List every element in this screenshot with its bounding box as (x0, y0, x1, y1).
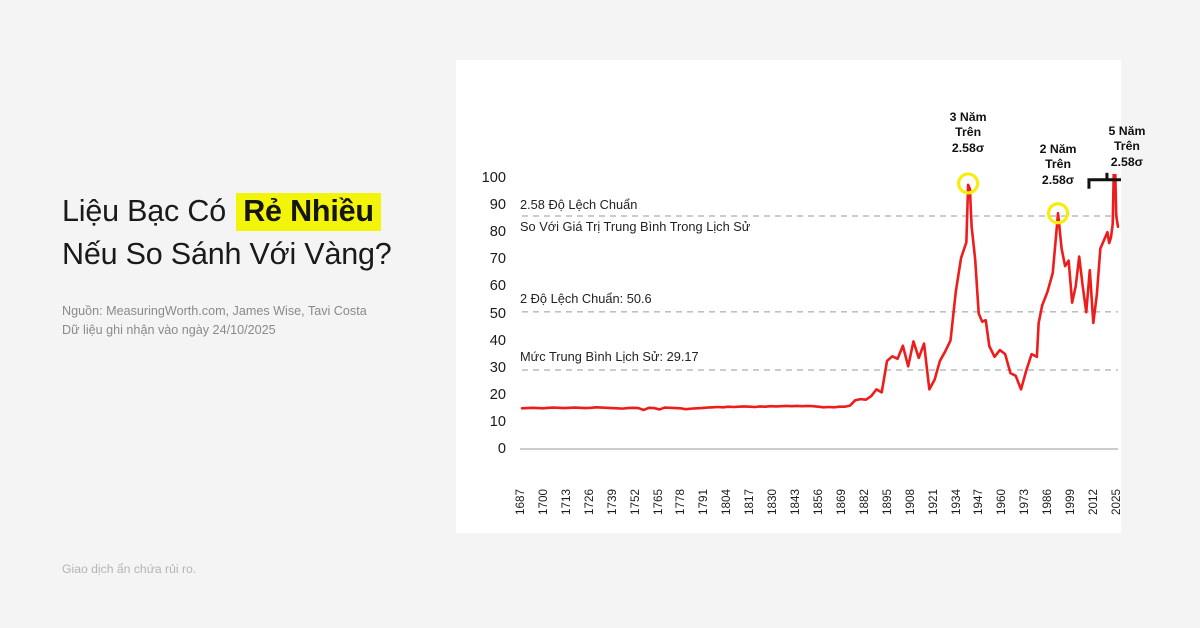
x-axis-tick-label: 1752 (629, 489, 642, 515)
x-axis-tick-label: 1739 (606, 489, 619, 515)
x-axis-tick-label: 1856 (812, 489, 825, 515)
plot-top-mask (456, 60, 1121, 174)
peak-1940-label: 3 NămTrên2.58σ (934, 110, 1002, 156)
peak-1991-label: 2 NămTrên2.58σ (1024, 142, 1092, 188)
disclaimer-text: Giao dịch ẩn chứa rủi ro. (62, 562, 196, 576)
y-axis-tick-label: 40 (464, 333, 506, 349)
page-title: Liệu Bạc Có Rẻ Nhiều Nếu So Sánh Với Vàn… (62, 190, 442, 277)
y-axis-tick-label: 90 (464, 197, 506, 213)
x-axis-tick-label: 1999 (1064, 489, 1077, 515)
x-axis-tick-label: 1817 (743, 489, 756, 515)
peak-1991-label-line: 2.58σ (1024, 173, 1092, 188)
peak-2020-label-line: Trên (1093, 139, 1161, 154)
x-axis-tick-label: 1960 (995, 489, 1008, 515)
x-axis-tick-label: 1934 (950, 489, 963, 515)
peak-1940-label-line: 3 Năm (934, 110, 1002, 125)
band-label-2-58-line1: 2.58 Độ Lệch Chuẩn (520, 197, 637, 212)
x-axis-tick-label: 2012 (1087, 489, 1100, 515)
y-axis-tick-label: 30 (464, 360, 506, 376)
editorial-column: Liệu Bạc Có Rẻ Nhiều Nếu So Sánh Với Vàn… (62, 190, 442, 341)
page-root: Liệu Bạc Có Rẻ Nhiều Nếu So Sánh Với Vàn… (0, 0, 1200, 628)
x-axis-tick-label: 1700 (537, 489, 550, 515)
y-axis-tick-label: 60 (464, 278, 506, 294)
x-axis-tick-label: 1921 (927, 489, 940, 515)
x-axis-tick-label: 1687 (514, 489, 527, 515)
y-axis-tick-label: 100 (464, 170, 506, 186)
y-axis-tick-label: 70 (464, 251, 506, 267)
peak-2020-label-line: 2.58σ (1093, 155, 1161, 170)
x-axis-tick-label: 1973 (1018, 489, 1031, 515)
y-axis-tick-label: 80 (464, 224, 506, 240)
peak-1991-label-line: 2 Năm (1024, 142, 1092, 157)
peak-1991-label-line: Trên (1024, 157, 1092, 172)
source-line-2: Dữ liệu ghi nhận vào ngày 24/10/2025 (62, 321, 442, 341)
x-axis-tick-label: 1869 (835, 489, 848, 515)
peak-2020-label: 5 NămTrên2.58σ (1093, 124, 1161, 170)
peak-1940-label-line: 2.58σ (934, 141, 1002, 156)
chart-plot-area: 0102030405060708090100 16871700171317261… (456, 60, 1121, 533)
x-axis-tick-label: 1791 (697, 489, 710, 515)
x-axis-tick-label: 1726 (583, 489, 596, 515)
source-line-1: Nguồn: MeasuringWorth.com, James Wise, T… (62, 302, 442, 322)
x-axis-tick-label: 1895 (881, 489, 894, 515)
x-axis-tick-label: 1765 (652, 489, 665, 515)
x-axis-tick-label: 1713 (560, 489, 573, 515)
y-axis-tick-label: 0 (464, 441, 506, 457)
x-axis-tick-label: 1947 (972, 489, 985, 515)
y-axis-tick-label: 20 (464, 387, 506, 403)
x-axis-tick-label: 1882 (858, 489, 871, 515)
band-label-historic-mean: Mức Trung Bình Lịch Sử: 29.17 (520, 349, 699, 364)
x-axis-tick-label: 1908 (904, 489, 917, 515)
chart-card: Tỷ Lệ Vàng So Với Bạc Dữ Liệu Hàng Năm 0… (456, 60, 1121, 533)
x-axis-tick-label: 1843 (789, 489, 802, 515)
y-axis-tick-label: 10 (464, 414, 506, 430)
headline-highlight: Rẻ Nhiều (236, 193, 381, 231)
source-credits: Nguồn: MeasuringWorth.com, James Wise, T… (62, 302, 442, 341)
x-axis-tick-label: 1986 (1041, 489, 1054, 515)
x-axis-tick-label: 1804 (720, 489, 733, 515)
headline-line-1: Liệu Bạc Có Rẻ Nhiều (62, 190, 442, 233)
x-axis-tick-label: 1830 (766, 489, 779, 515)
y-axis-tick-label: 50 (464, 306, 506, 322)
band-label-2-58-line2: So Với Giá Trị Trung Bình Trong Lịch Sử (520, 219, 750, 234)
peak-1940-label-line: Trên (934, 125, 1002, 140)
x-axis-tick-label: 1778 (674, 489, 687, 515)
headline-line-2: Nếu So Sánh Với Vàng? (62, 233, 442, 276)
band-label-2-sigma: 2 Độ Lệch Chuẩn: 50.6 (520, 291, 652, 306)
headline-text-plain: Liệu Bạc Có (62, 194, 234, 228)
peak-2020-label-line: 5 Năm (1093, 124, 1161, 139)
x-axis-tick-label: 2025 (1110, 489, 1123, 515)
